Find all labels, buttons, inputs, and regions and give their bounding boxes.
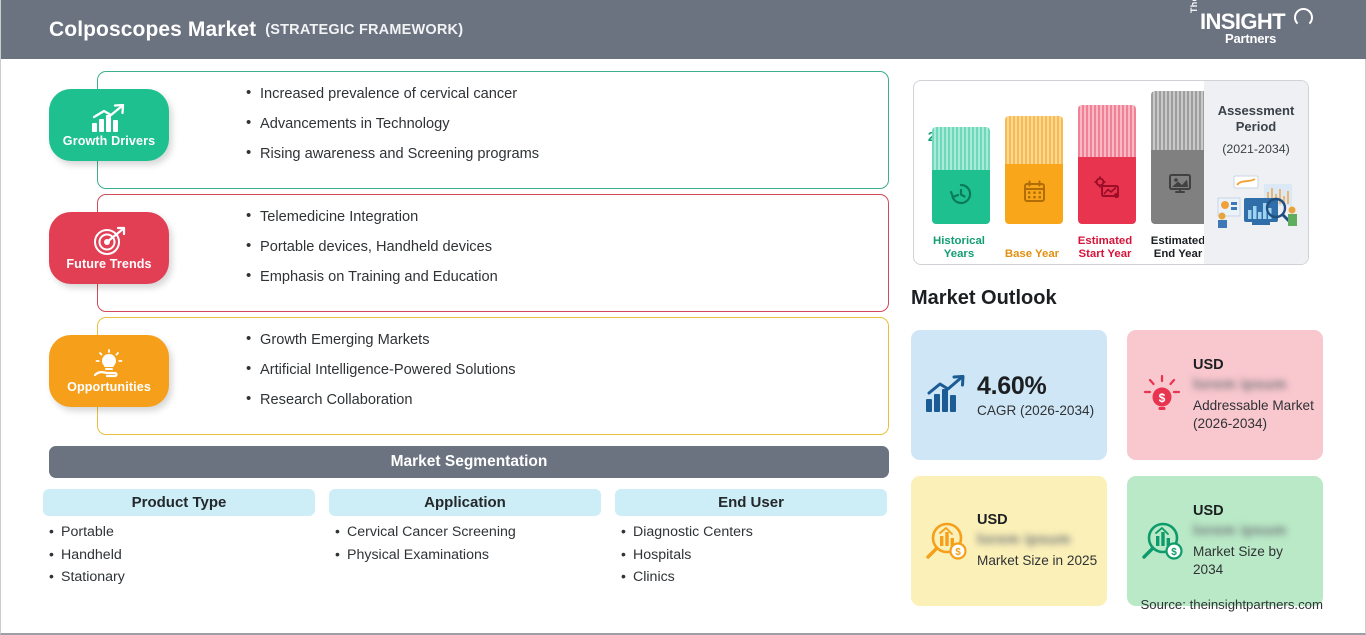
bar-body — [932, 170, 990, 224]
lightbulb-hand-icon — [89, 348, 129, 379]
timeline-caption: Estimated Start Year — [1066, 235, 1144, 262]
opportunities-box: Growth Emerging Markets Artificial Intel… — [97, 317, 889, 435]
card-label: Market Size by 2034 — [1193, 543, 1315, 579]
logo-ring-icon — [1294, 8, 1313, 27]
segment-item-list: Diagnostic Centers Hospitals Clinics — [615, 524, 887, 586]
timeline-bar-estimated-start — [1078, 105, 1136, 224]
timeline-bar-historical — [932, 127, 990, 224]
logo-partners-text: Partners — [1225, 31, 1276, 46]
assessment-period-label: Assessment Period — [1204, 103, 1308, 136]
segment-header: End User — [615, 489, 887, 516]
calendar-icon — [1022, 179, 1047, 209]
outlook-column: 2021-2024 Historical Years — [906, 59, 1366, 635]
bar-stripe-top — [1151, 91, 1209, 150]
card-text: 4.60% CAGR (2026-2034) — [973, 372, 1099, 418]
segmentation-column-product-type: Product Type Portable Handheld Stationar… — [43, 489, 315, 592]
outlook-cards: 4.60% CAGR (2026-2034) $ — [911, 330, 1323, 606]
svg-text:$: $ — [955, 547, 961, 558]
card-text: USD lorem ipsum Market Size by 2034 — [1189, 503, 1315, 579]
bar-chart-arrow-icon — [919, 375, 973, 415]
bar-body — [1005, 164, 1063, 224]
assessment-period-panel: Assessment Period (2021-2034) — [1204, 81, 1308, 264]
currency-label: USD — [977, 512, 1099, 528]
list-item: Emphasis on Training and Education — [246, 269, 874, 285]
opportunities-list: Growth Emerging Markets Artificial Intel… — [246, 332, 874, 422]
bar-body — [1151, 150, 1209, 224]
segment-header: Product Type — [43, 489, 315, 516]
growth-chart-icon — [90, 102, 128, 133]
growth-drivers-list: Increased prevalence of cervical cancer … — [246, 86, 874, 176]
list-item: Telemedicine Integration — [246, 209, 874, 225]
list-item: Research Collaboration — [246, 392, 874, 408]
segment-item-list: Cervical Cancer Screening Physical Exami… — [329, 524, 601, 564]
monitor-chart-icon — [1167, 172, 1193, 201]
card-cagr[interactable]: 4.60% CAGR (2026-2034) — [911, 330, 1107, 460]
hidden-value: lorem ipsum — [1193, 376, 1287, 393]
list-item: Handheld — [49, 547, 315, 564]
framework-column: Increased prevalence of cervical cancer … — [1, 59, 906, 635]
list-item: Portable devices, Handheld devices — [246, 239, 874, 255]
timeline-bars: 2021-2024 Historical Years — [924, 81, 1194, 265]
logo-the-text: The — [1189, 0, 1199, 13]
hidden-value: lorem ipsum — [977, 531, 1071, 548]
svg-text:$: $ — [1171, 547, 1177, 558]
future-trends-label: Future Trends — [66, 257, 151, 271]
card-text: USD lorem ipsum Addressable Market (2026… — [1189, 357, 1315, 433]
segment-header: Application — [329, 489, 601, 516]
source-attribution: Source: theinsightpartners.com — [1140, 597, 1323, 612]
hidden-value: lorem ipsum — [1193, 522, 1287, 539]
target-dartboard-icon — [92, 225, 126, 256]
assessment-timeline: 2021-2024 Historical Years — [913, 80, 1309, 265]
list-item: Clinics — [621, 569, 887, 586]
insight-partners-logo: The INSIGHT Partners — [1189, 8, 1309, 52]
list-item: Hospitals — [621, 547, 887, 564]
list-item: Artificial Intelligence-Powered Solution… — [246, 362, 874, 378]
growth-drivers-badge[interactable]: Growth Drivers — [49, 89, 169, 161]
opportunities-label: Opportunities — [67, 380, 151, 394]
cagr-value: 4.60% — [977, 372, 1099, 401]
currency-label: USD — [1193, 357, 1315, 373]
market-outlook-title: Market Outlook — [911, 287, 1057, 310]
bar-stripe-top — [1078, 105, 1136, 157]
bar-stripe-top — [932, 127, 990, 170]
infographic-page: Colposcopes Market (STRATEGIC FRAMEWORK)… — [0, 0, 1366, 635]
future-trends-badge[interactable]: Future Trends — [49, 212, 169, 284]
list-item: Cervical Cancer Screening — [335, 524, 601, 541]
cagr-label: CAGR (2026-2034) — [977, 403, 1099, 418]
bulb-dollar-icon: $ — [1135, 373, 1189, 417]
magnifier-chart-dollar-icon: $ — [1135, 519, 1189, 563]
market-segmentation-bar: Market Segmentation — [49, 446, 889, 478]
growth-drivers-box: Increased prevalence of cervical cancer … — [97, 71, 889, 189]
page-header: Colposcopes Market (STRATEGIC FRAMEWORK)… — [1, 0, 1366, 59]
analytics-illustration — [1208, 170, 1304, 237]
page-subtitle: (STRATEGIC FRAMEWORK) — [265, 22, 463, 38]
list-item: Stationary — [49, 569, 315, 586]
card-label: Addressable Market (2026-2034) — [1193, 397, 1315, 433]
list-item: Portable — [49, 524, 315, 541]
list-item: Diagnostic Centers — [621, 524, 887, 541]
list-item: Increased prevalence of cervical cancer — [246, 86, 874, 102]
segmentation-column-end-user: End User Diagnostic Centers Hospitals Cl… — [615, 489, 887, 592]
forecast-gear-icon — [1094, 176, 1120, 205]
history-clock-icon — [948, 181, 974, 212]
list-item: Advancements in Technology — [246, 116, 874, 132]
card-addressable-market[interactable]: $ USD lorem ipsum Addressable Market (20… — [1127, 330, 1323, 460]
segmentation-column-application: Application Cervical Cancer Screening Ph… — [329, 489, 601, 592]
segmentation-columns: Product Type Portable Handheld Stationar… — [43, 489, 895, 592]
bar-body — [1078, 157, 1136, 224]
bar-stripe-top — [1005, 116, 1063, 164]
timeline-caption: Base Year — [993, 248, 1071, 262]
timeline-bar-estimated-end — [1151, 91, 1209, 224]
page-title: Colposcopes Market — [49, 18, 256, 42]
list-item: Growth Emerging Markets — [246, 332, 874, 348]
opportunities-badge[interactable]: Opportunities — [49, 335, 169, 407]
assessment-period-range: (2021-2034) — [1222, 142, 1290, 156]
segment-item-list: Portable Handheld Stationary — [43, 524, 315, 586]
card-text: USD lorem ipsum Market Size in 2025 — [973, 512, 1099, 570]
card-market-size-2025[interactable]: $ USD lorem ipsum Market Size in 2025 — [911, 476, 1107, 606]
magnifier-chart-dollar-icon: $ — [919, 519, 973, 563]
list-item: Rising awareness and Screening programs — [246, 146, 874, 162]
currency-label: USD — [1193, 503, 1315, 519]
timeline-caption: Historical Years — [920, 235, 998, 262]
future-trends-box: Telemedicine Integration Portable device… — [97, 194, 889, 312]
framework-section-growth-drivers: Increased prevalence of cervical cancer … — [49, 71, 889, 191]
timeline-bar-base — [1005, 116, 1063, 224]
list-item: Physical Examinations — [335, 547, 601, 564]
framework-section-future-trends: Telemedicine Integration Portable device… — [49, 194, 889, 314]
framework-section-opportunities: Growth Emerging Markets Artificial Intel… — [49, 317, 889, 437]
future-trends-list: Telemedicine Integration Portable device… — [246, 209, 874, 299]
svg-text:$: $ — [1159, 391, 1166, 405]
card-market-size-2034[interactable]: $ USD lorem ipsum Market Size by 2034 — [1127, 476, 1323, 606]
growth-drivers-label: Growth Drivers — [63, 134, 155, 148]
card-label: Market Size in 2025 — [977, 552, 1099, 570]
